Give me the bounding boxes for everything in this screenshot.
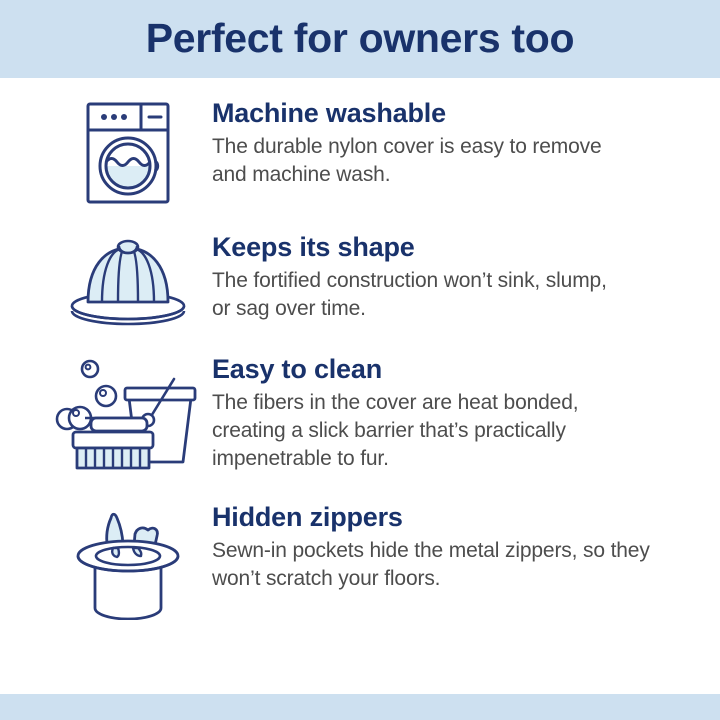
washing-machine-icon [82, 100, 174, 206]
feature-item-machine-washable: Machine washable The durable nylon cover… [0, 96, 720, 206]
feature-text: Machine washable The durable nylon cover… [212, 96, 694, 189]
feature-description: The fortified construction won’t sink, s… [212, 267, 612, 323]
icon-cell [44, 230, 212, 328]
feature-description: The durable nylon cover is easy to remov… [212, 133, 612, 189]
feature-title: Keeps its shape [212, 232, 694, 262]
feature-item-keeps-its-shape: Keeps its shape The fortified constructi… [0, 230, 720, 328]
feature-title: Hidden zippers [212, 502, 694, 532]
page-title: Perfect for owners too [146, 18, 575, 61]
feature-item-easy-to-clean: Easy to clean The fibers in the cover ar… [0, 352, 720, 478]
infographic-page: Perfect for owners too [0, 0, 720, 720]
jelly-mold-icon [66, 234, 190, 328]
feature-title: Easy to clean [212, 354, 694, 384]
bucket-and-brush-icon [55, 356, 201, 478]
feature-description: Sewn-in pockets hide the metal zippers, … [212, 537, 672, 593]
icon-cell [44, 352, 212, 478]
footer-band [0, 694, 720, 720]
top-hat-with-rabbit-ears-icon [71, 504, 185, 620]
icon-cell [44, 96, 212, 206]
feature-text: Hidden zippers Sewn-in pockets hide the … [212, 500, 694, 593]
feature-text: Easy to clean The fibers in the cover ar… [212, 352, 694, 473]
feature-list: Machine washable The durable nylon cover… [0, 78, 720, 694]
icon-cell [44, 500, 212, 620]
feature-description: The fibers in the cover are heat bonded,… [212, 389, 612, 473]
feature-title: Machine washable [212, 98, 694, 128]
header-band: Perfect for owners too [0, 0, 720, 78]
feature-text: Keeps its shape The fortified constructi… [212, 230, 694, 323]
feature-item-hidden-zippers: Hidden zippers Sewn-in pockets hide the … [0, 500, 720, 620]
